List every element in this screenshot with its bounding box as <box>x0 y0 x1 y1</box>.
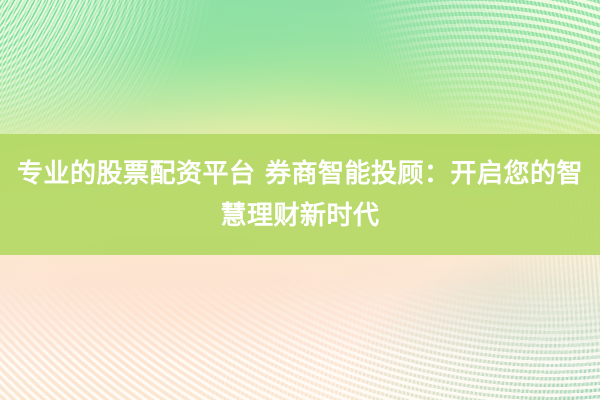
promo-banner: 专业的股票配资平台 券商智能投顾：开启您的智 慧理财新时代 <box>0 0 600 400</box>
headline: 专业的股票配资平台 券商智能投顾：开启您的智 慧理财新时代 <box>0 134 600 255</box>
headline-line-1: 专业的股票配资平台 券商智能投顾：开启您的智 <box>17 156 583 192</box>
headline-line-2: 慧理财新时代 <box>220 198 379 234</box>
